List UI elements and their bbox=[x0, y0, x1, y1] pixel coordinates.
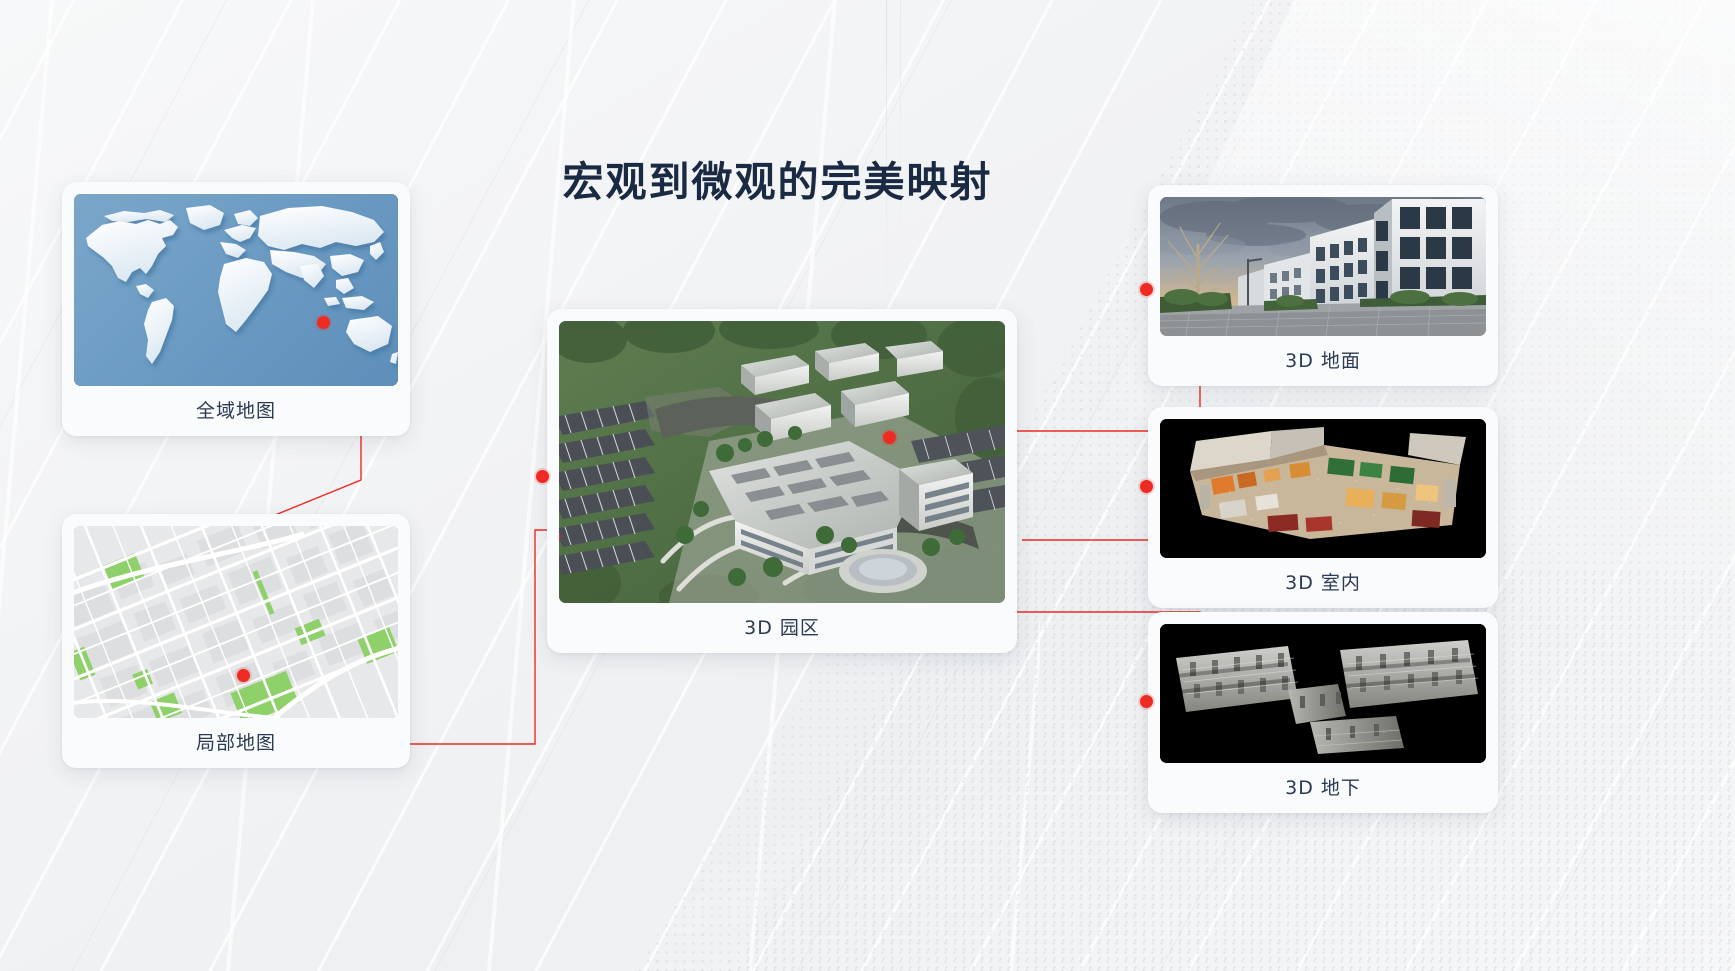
card-3d-underground[interactable]: 3D 地下 bbox=[1148, 612, 1498, 813]
indoor-3d-scan-art bbox=[1160, 419, 1486, 558]
world-map-art bbox=[74, 194, 398, 386]
card-global-map-caption: 全域地图 bbox=[74, 386, 398, 436]
indoor-marker bbox=[1140, 480, 1153, 493]
underground-3d-scan-art bbox=[1160, 624, 1486, 763]
page-title-text: 宏观到微观的完美映射 bbox=[563, 148, 993, 208]
street-map-art bbox=[74, 526, 398, 718]
card-3d-campus-caption: 3D 园区 bbox=[559, 603, 1005, 653]
world-map-marker bbox=[317, 316, 330, 329]
global-map-thumbnail[interactable] bbox=[74, 194, 398, 386]
campus-entry-marker bbox=[536, 470, 549, 483]
card-3d-campus[interactable]: 3D 园区 bbox=[547, 309, 1017, 653]
ground-thumbnail[interactable] bbox=[1160, 197, 1486, 336]
indoor-thumbnail[interactable] bbox=[1160, 419, 1486, 558]
card-global-map[interactable]: 全域地图 bbox=[62, 182, 410, 436]
card-local-map-caption: 局部地图 bbox=[74, 718, 398, 768]
card-3d-underground-caption: 3D 地下 bbox=[1160, 763, 1486, 813]
underground-thumbnail[interactable] bbox=[1160, 624, 1486, 763]
card-3d-ground-caption: 3D 地面 bbox=[1160, 336, 1486, 386]
card-local-map[interactable]: 局部地图 bbox=[62, 514, 410, 768]
presentation-canvas: 宏观到微观的完美映射 bbox=[0, 0, 1735, 971]
card-3d-indoor[interactable]: 3D 室内 bbox=[1148, 407, 1498, 608]
card-3d-ground[interactable]: 3D 地面 bbox=[1148, 185, 1498, 386]
local-map-thumbnail[interactable] bbox=[74, 526, 398, 718]
ground-marker bbox=[1140, 283, 1153, 296]
campus-top-marker bbox=[883, 431, 896, 444]
local-map-marker bbox=[237, 669, 250, 682]
aerial-campus-art bbox=[559, 321, 1005, 603]
ground-photo-art bbox=[1160, 197, 1486, 336]
underground-marker bbox=[1140, 695, 1153, 708]
campus-thumbnail[interactable] bbox=[559, 321, 1005, 603]
card-3d-indoor-caption: 3D 室内 bbox=[1160, 558, 1486, 608]
